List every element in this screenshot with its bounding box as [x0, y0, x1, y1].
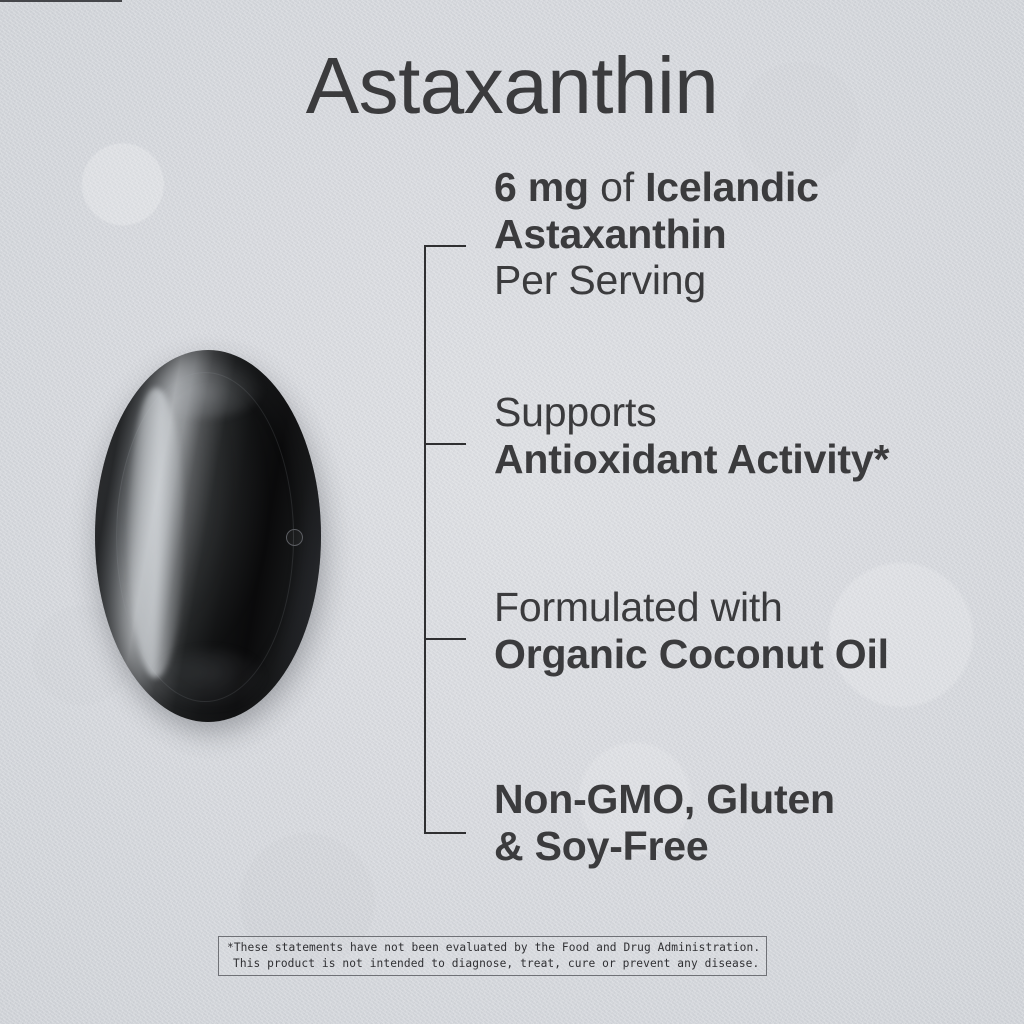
callout-stub-1 [424, 245, 466, 247]
disclaimer-line-2: This product is not intended to diagnose… [227, 956, 758, 972]
benefit-item-dosage: 6 mg of IcelandicAstaxanthinPer Serving [494, 164, 994, 304]
benefit-item-non-gmo: Non-GMO, Gluten& Soy-Free [494, 776, 994, 869]
fda-disclaimer-box: *These statements have not been evaluate… [218, 936, 767, 976]
benefit-text-run: Formulated with [494, 584, 783, 630]
benefit-line: Formulated with [494, 584, 994, 631]
disclaimer-line-1: *These statements have not been evaluate… [227, 940, 758, 956]
benefit-line: 6 mg of Icelandic [494, 164, 994, 211]
benefit-text-run: Antioxidant Activity* [494, 436, 889, 482]
callout-bracket [0, 0, 1024, 1024]
product-infographic: Astaxanthin 6 mg of IcelandicAstaxanthin… [0, 0, 1024, 1024]
benefit-line: & Soy-Free [494, 823, 994, 870]
benefit-line: Non-GMO, Gluten [494, 776, 994, 823]
benefit-item-coconut-oil: Formulated withOrganic Coconut Oil [494, 584, 994, 677]
callout-point-marker-icon [286, 529, 303, 546]
callout-leader-line [0, 0, 122, 2]
callout-spine-line [424, 245, 426, 834]
benefit-line: Astaxanthin [494, 211, 994, 258]
benefit-text-run: Icelandic [645, 164, 819, 210]
benefit-text-run: Organic Coconut Oil [494, 631, 889, 677]
benefit-line: Per Serving [494, 257, 994, 304]
benefit-text-run: Supports [494, 389, 657, 435]
callout-stub-3 [424, 638, 466, 640]
benefit-text-run: of [600, 164, 645, 210]
benefit-text-run: Per Serving [494, 257, 706, 303]
benefit-item-antioxidant: SupportsAntioxidant Activity* [494, 389, 994, 482]
benefit-line: Supports [494, 389, 994, 436]
callout-stub-2 [424, 443, 466, 445]
benefit-line: Antioxidant Activity* [494, 436, 994, 483]
callout-stub-4 [424, 832, 466, 834]
benefit-text-run: 6 mg [494, 164, 600, 210]
benefit-text-run: & Soy-Free [494, 823, 708, 869]
benefit-text-run: Astaxanthin [494, 211, 726, 257]
benefit-text-run: Non-GMO, Gluten [494, 776, 835, 822]
benefit-line: Organic Coconut Oil [494, 631, 994, 678]
